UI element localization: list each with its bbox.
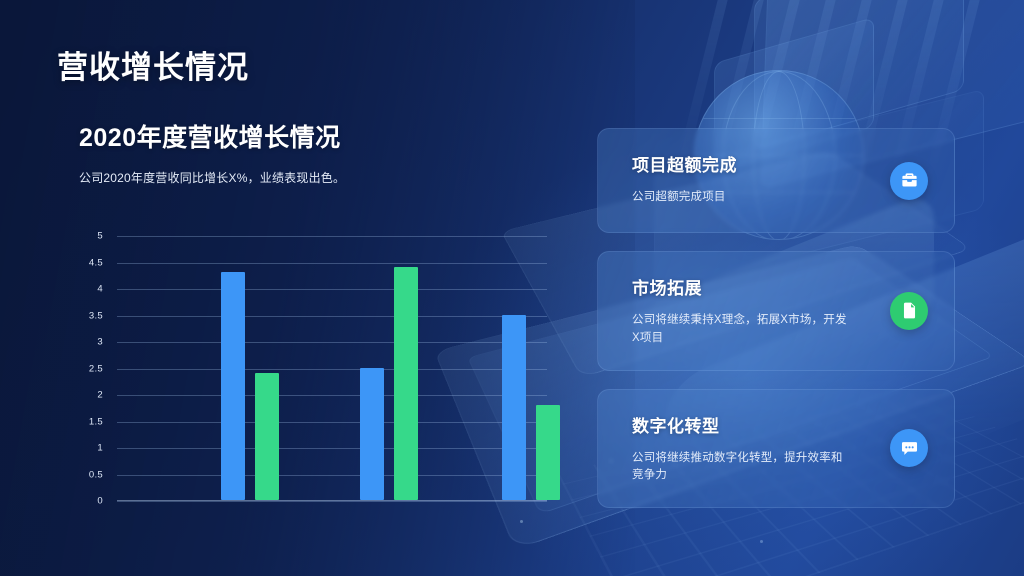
gridline <box>117 316 547 317</box>
gridline <box>117 501 547 502</box>
gridline <box>117 448 547 449</box>
plot-area <box>117 236 547 501</box>
y-axis-tick: 3 <box>97 337 103 348</box>
gridline <box>117 263 547 264</box>
document-icon <box>890 292 928 330</box>
highlight-card[interactable]: 数字化转型公司将继续推动数字化转型，提升效率和竞争力 <box>597 389 955 509</box>
gridline <box>117 475 547 476</box>
y-axis-tick: 1.5 <box>89 416 103 427</box>
y-axis-tick: 0.5 <box>89 469 103 480</box>
gridline <box>117 342 547 343</box>
y-axis-tick: 4.5 <box>89 257 103 268</box>
card-description: 公司超额完成项目 <box>632 189 847 207</box>
chart-subtitle: 公司2020年度营收同比增长X%，业绩表现出色。 <box>79 169 557 186</box>
y-axis-tick: 3.5 <box>89 310 103 321</box>
y-axis-tick: 2 <box>97 390 103 401</box>
y-axis-tick: 0 <box>97 496 103 507</box>
card-description: 公司将继续秉持X理念，拓展X市场，开发X项目 <box>632 312 847 348</box>
gridline <box>117 422 547 423</box>
card-title: 数字化转型 <box>632 412 930 437</box>
highlight-cards: 项目超额完成公司超额完成项目市场拓展公司将继续秉持X理念，拓展X市场，开发X项目… <box>597 128 955 526</box>
y-axis-tick: 4 <box>97 284 103 295</box>
bar-chart: 54.543.532.521.510.50 <box>77 236 547 501</box>
card-description: 公司将继续推动数字化转型，提升效率和竞争力 <box>632 450 847 486</box>
y-axis-tick: 1 <box>97 443 103 454</box>
page-title: 营收增长情况 <box>57 42 249 87</box>
slide-content: 营收增长情况 2020年度营收增长情况 公司2020年度营收同比增长X%，业绩表… <box>0 0 1024 576</box>
chart-panel: 2020年度营收增长情况 公司2020年度营收同比增长X%，业绩表现出色。 54… <box>57 118 557 186</box>
chart-bar <box>221 272 245 500</box>
y-axis-tick: 2.5 <box>89 363 103 374</box>
y-axis: 54.543.532.521.510.50 <box>77 236 109 501</box>
gridline <box>117 289 547 290</box>
chart-bar <box>360 368 384 501</box>
chart-bar <box>536 405 560 500</box>
gridline <box>117 395 547 396</box>
toolbox-icon <box>890 162 928 200</box>
y-axis-tick: 5 <box>97 231 103 242</box>
chart-bar <box>394 267 418 500</box>
gridline <box>117 236 547 237</box>
card-title: 项目超额完成 <box>632 151 930 176</box>
card-title: 市场拓展 <box>632 274 930 299</box>
highlight-card[interactable]: 市场拓展公司将继续秉持X理念，拓展X市场，开发X项目 <box>597 251 955 371</box>
chart-title: 2020年度营收增长情况 <box>79 118 557 154</box>
chart-bar <box>502 315 526 501</box>
highlight-card[interactable]: 项目超额完成公司超额完成项目 <box>597 128 955 233</box>
chat-icon <box>890 429 928 467</box>
gridline <box>117 369 547 370</box>
chart-bar <box>255 373 279 500</box>
